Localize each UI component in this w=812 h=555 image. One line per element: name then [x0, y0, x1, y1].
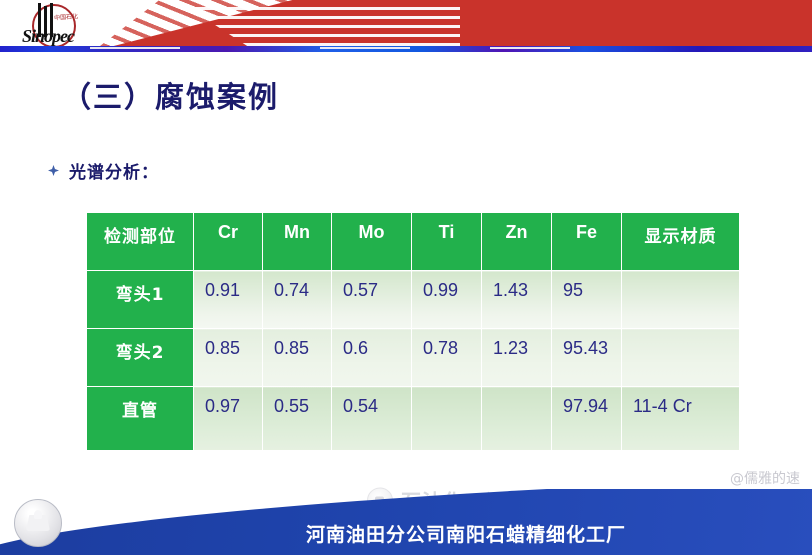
cell-zn: 1.23 — [482, 329, 552, 387]
cell-material — [622, 329, 740, 387]
logo-wordmark: Sinopec — [22, 26, 74, 46]
cell-mn: 0.55 — [263, 387, 332, 451]
stripe-highlight — [90, 47, 180, 49]
cell-mo: 0.6 — [332, 329, 412, 387]
cell-ti: 0.78 — [412, 329, 482, 387]
cell-fe: 95.43 — [552, 329, 622, 387]
table-row: 弯头1 0.91 0.74 0.57 0.99 1.43 95 — [87, 271, 740, 329]
table-row: 弯头2 0.85 0.85 0.6 0.78 1.23 95.43 — [87, 329, 740, 387]
cell-material: 11-4 Cr — [622, 387, 740, 451]
table-header-row: 检测部位 Cr Mn Mo Ti Zn Fe 显示材质 — [87, 213, 740, 271]
bullet-label: 光谱分析： — [69, 158, 159, 183]
cell-site: 弯头1 — [87, 271, 194, 329]
cell-ti: 0.99 — [412, 271, 482, 329]
stripe-highlight — [320, 47, 410, 49]
cell-material — [622, 271, 740, 329]
diamond-bullet-icon — [48, 165, 59, 176]
cell-ti — [412, 387, 482, 451]
bullet-line: 光谱分析： — [48, 158, 159, 183]
column-header-zn: Zn — [482, 213, 552, 271]
column-header-site: 检测部位 — [87, 213, 194, 271]
cell-fe: 95 — [552, 271, 622, 329]
cell-mo: 0.57 — [332, 271, 412, 329]
top-banner: 中国石化 Sinopec — [0, 0, 812, 46]
cell-cr: 0.85 — [194, 329, 263, 387]
cell-fe: 97.94 — [552, 387, 622, 451]
cell-site: 弯头2 — [87, 329, 194, 387]
user-watermark: @儒雅的速 — [730, 468, 800, 488]
page-title: （三）腐蚀案例 — [62, 74, 279, 116]
footer-label: 河南油田分公司南阳石蜡精细化工厂 — [0, 520, 812, 547]
cell-site: 直管 — [87, 387, 194, 451]
column-header-ti: Ti — [412, 213, 482, 271]
column-header-mo: Mo — [332, 213, 412, 271]
cell-mn: 0.85 — [263, 329, 332, 387]
column-header-material: 显示材质 — [622, 213, 740, 271]
cell-mn: 0.74 — [263, 271, 332, 329]
column-header-cr: Cr — [194, 213, 263, 271]
cell-zn: 1.43 — [482, 271, 552, 329]
column-header-mn: Mn — [263, 213, 332, 271]
spectral-analysis-table: 检测部位 Cr Mn Mo Ti Zn Fe 显示材质 弯头1 0.91 0.7… — [86, 212, 740, 451]
cell-cr: 0.97 — [194, 387, 263, 451]
logo-chinese-text: 中国石化 — [54, 11, 79, 22]
sinopec-logo: 中国石化 Sinopec — [14, 2, 96, 46]
slide-footer: 河南油田分公司南阳石蜡精细化工厂 — [0, 489, 812, 555]
cell-cr: 0.91 — [194, 271, 263, 329]
cell-mo: 0.54 — [332, 387, 412, 451]
column-header-fe: Fe — [552, 213, 622, 271]
stripe-highlight — [490, 47, 570, 49]
table-row: 直管 0.97 0.55 0.54 97.94 11-4 Cr — [87, 387, 740, 451]
cell-zn — [482, 387, 552, 451]
